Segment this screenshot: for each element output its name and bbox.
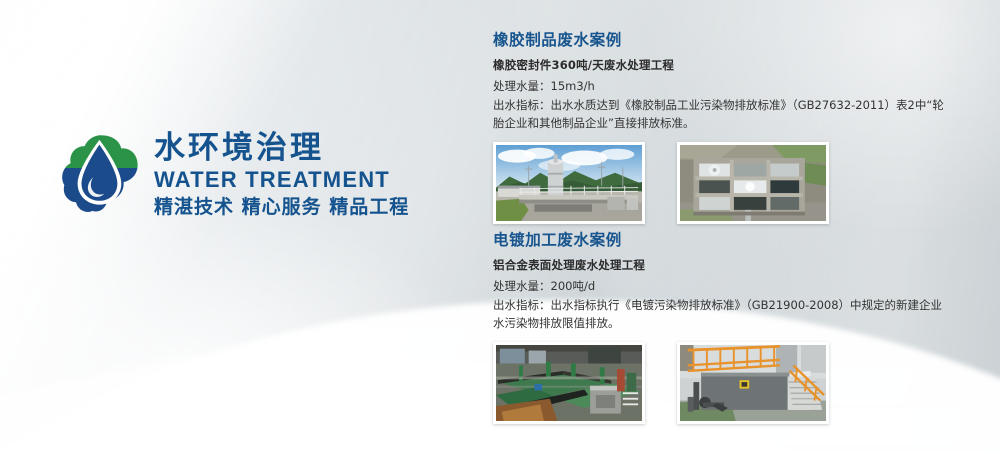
brand-title-cn: 水环境治理 (154, 133, 409, 164)
case-subtitle: 橡胶密封件360吨/天废水处理工程 (493, 57, 945, 73)
case-photo-aerial-basins[interactable]: 橡胶废水处理工程航拍 — 污水处理池 (677, 142, 829, 224)
case-capacity: 处理水量：15m3/h (493, 78, 945, 96)
case-standard: 出水指标：出水水质达到《橡胶制品工业污染物排放标准》（GB27632-2011）… (493, 97, 945, 133)
case-photo-row: 电镀废水处理车间 — 处理槽 (493, 342, 945, 424)
case-block-electroplating: 电镀加工废水案例 铝合金表面处理废水处理工程 处理水量：200吨/d 出水指标：… (493, 228, 945, 424)
brand-text: 水环境治理 WATER TREATMENT 精湛技术 精心服务 精品工程 (154, 133, 409, 217)
case-photo-row: 橡胶废水处理工程现场 — 储罐与处理设备 (493, 142, 945, 224)
case-title: 电镀加工废水案例 (493, 228, 945, 250)
case-capacity: 处理水量：200吨/d (493, 278, 945, 296)
case-subtitle: 铝合金表面处理废水处理工程 (493, 257, 945, 273)
case-title: 橡胶制品废水案例 (493, 28, 945, 50)
banner-stage: 水环境治理 WATER TREATMENT 精湛技术 精心服务 精品工程 橡胶制… (0, 0, 1000, 454)
case-standard: 出水指标：出水指标执行《电镀污染物排放标准》（GB21900-2008）中规定的… (493, 297, 945, 333)
case-photo-reactor-stairs[interactable]: 电镀废水处理设备 — 反应罐与楼梯平台 (677, 342, 829, 424)
brand-block: 水环境治理 WATER TREATMENT 精湛技术 精心服务 精品工程 (62, 132, 409, 218)
water-drop-flower-logo-icon (62, 132, 140, 218)
case-photo-plating-tanks[interactable]: 电镀废水处理车间 — 处理槽 (493, 342, 645, 424)
case-block-rubber: 橡胶制品废水案例 橡胶密封件360吨/天废水处理工程 处理水量：15m3/h 出… (493, 28, 945, 224)
background-glow-bottom-left (0, 194, 480, 454)
background-streak-left-thin (0, 0, 179, 454)
background-streak-left (0, 0, 370, 454)
case-photo-tank-plant[interactable]: 橡胶废水处理工程现场 — 储罐与处理设备 (493, 142, 645, 224)
brand-title-en: WATER TREATMENT (154, 169, 409, 191)
brand-slogan: 精湛技术 精心服务 精品工程 (154, 198, 409, 217)
